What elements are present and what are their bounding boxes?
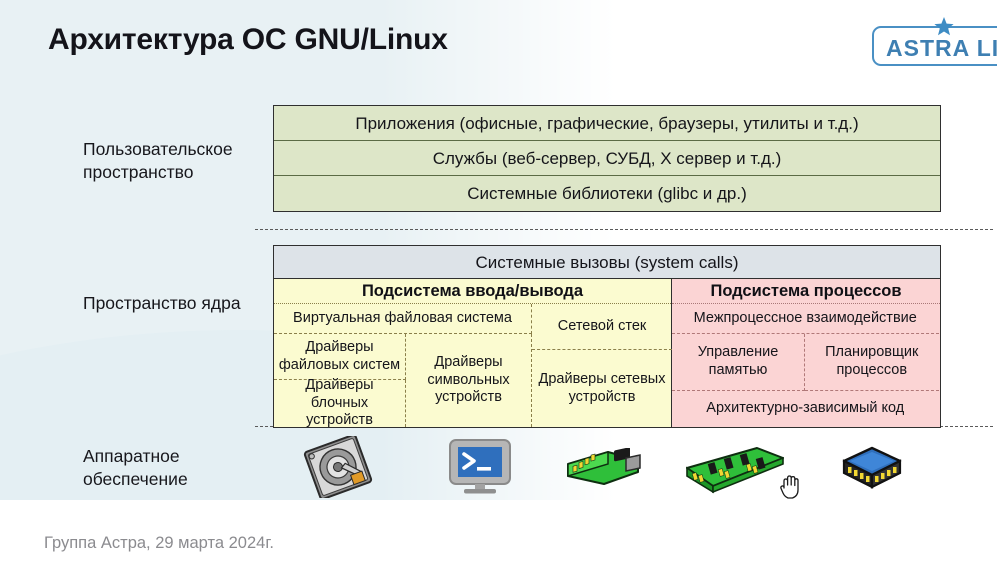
monitor-terminal-icon [447,438,513,501]
process-subsystem-grid: Межпроцессное взаимодействие Управление … [672,304,940,427]
ram-module-icon [683,446,787,499]
user-space-row-libraries: Системные библиотеки (glibc и др.) [274,176,940,211]
process-subsystem: Подсистема процессов Межпроцессное взаим… [672,279,940,427]
io-cell-network-stack: Сетевой стек [532,304,672,350]
page-title: Архитектура ОС GNU/Linux [48,23,448,57]
network-card-icon [560,448,642,497]
user-space-row-applications: Приложения (офисные, графические, браузе… [274,106,940,141]
cpu-chip-icon [840,445,904,498]
process-subsystem-heading: Подсистема процессов [672,279,940,304]
io-cell-char-drivers: Драйверы символьных устройств [406,334,532,427]
divider-user-kernel [255,229,993,230]
io-cell-vfs: Виртуальная файловая система [274,304,532,334]
io-cell-block-drivers: Драйверы блочных устройств [274,380,406,427]
io-subsystem: Подсистема ввода/вывода Виртуальная файл… [274,279,672,427]
kernel-space-block: Системные вызовы (system calls) Подсисте… [273,245,941,428]
astra-linux-logo: ASTRA LIN [872,26,997,66]
process-cell-ipc: Межпроцессное взаимодействие [672,304,939,334]
hardware-icon-row [273,434,941,500]
process-cell-memory-management: Управление памятью [672,334,805,391]
io-cell-network-drivers: Драйверы сетевых устройств [532,350,672,427]
process-cell-scheduler: Планировщик процессов [805,334,939,391]
slide-canvas: Архитектура ОС GNU/Linux ASTRA LIN Польз… [0,0,997,576]
io-cell-fs-drivers: Драйверы файловых систем [274,334,406,380]
system-calls-bar: Системные вызовы (system calls) [274,246,940,279]
side-label-hardware: Аппаратное обеспечение [83,445,273,492]
logo-text: ASTRA LIN [886,35,997,62]
footer-text: Группа Астра, 29 марта 2024г. [44,534,274,553]
user-space-row-services: Службы (веб-сервер, СУБД, X сервер и т.д… [274,141,940,176]
hand-cursor-icon [779,474,801,505]
io-subsystem-grid: Виртуальная файловая система Драйверы фа… [274,304,671,427]
io-subsystem-heading: Подсистема ввода/вывода [274,279,671,304]
user-space-block: Приложения (офисные, графические, браузе… [273,105,941,212]
kernel-subsystems: Подсистема ввода/вывода Виртуальная файл… [274,279,940,427]
hard-disk-icon [301,436,375,503]
side-label-kernel-space: Пространство ядра [83,292,273,315]
side-label-user-space: Пользовательское пространство [83,138,273,185]
process-cell-arch-code: Архитектурно-зависимый код [672,391,939,427]
